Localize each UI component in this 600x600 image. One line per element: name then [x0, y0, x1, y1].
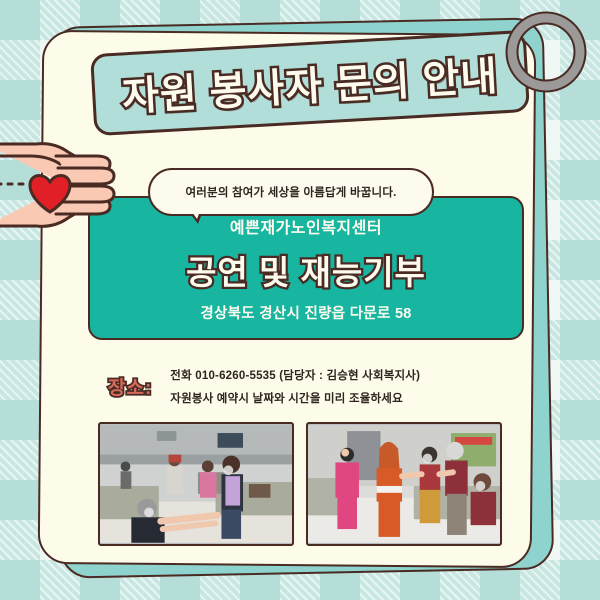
headline-text: 공연 및 재능기부: [186, 246, 426, 294]
teal-info-panel: 예쁜재가노인복지센터 공연 및 재능기부 경상북도 경산시 진량읍 다문로 58: [88, 196, 524, 340]
address-text: 경상북도 경산시 진량읍 다문로 58: [200, 302, 411, 323]
photo-activity-1: [98, 422, 294, 546]
organization-name: 예쁜재가노인복지센터: [230, 214, 382, 238]
photo-gallery: [98, 422, 502, 542]
hands-holding-heart-icon: [0, 126, 126, 244]
page-title: 자원 봉사자 문의 안내: [120, 44, 499, 123]
contact-lines: 전화 010-6260-5535 (담당자 : 김승현 사회복지사) 자원봉사 …: [170, 367, 420, 406]
tagline-text: 여러분의 참여가 세상을 아름답게 바꿉니다.: [185, 184, 396, 200]
location-label: 장소:: [108, 373, 152, 400]
speech-bubble-tail-inner: [188, 206, 202, 219]
contact-phone-line: 전화 010-6260-5535 (담당자 : 김승현 사회복지사): [170, 367, 420, 383]
contact-info-row: 장소: 전화 010-6260-5535 (담당자 : 김승현 사회복지사) 자…: [108, 358, 508, 414]
volunteer-poster: 자원 봉사자 문의 안내 여러분의 참여가 세상을 아름답게 바꿉니다. 예쁜재…: [0, 0, 600, 600]
photo-activity-2: [306, 422, 502, 546]
contact-booking-line: 자원봉사 예약시 날짜와 시간을 미리 조율하세요: [170, 390, 420, 406]
